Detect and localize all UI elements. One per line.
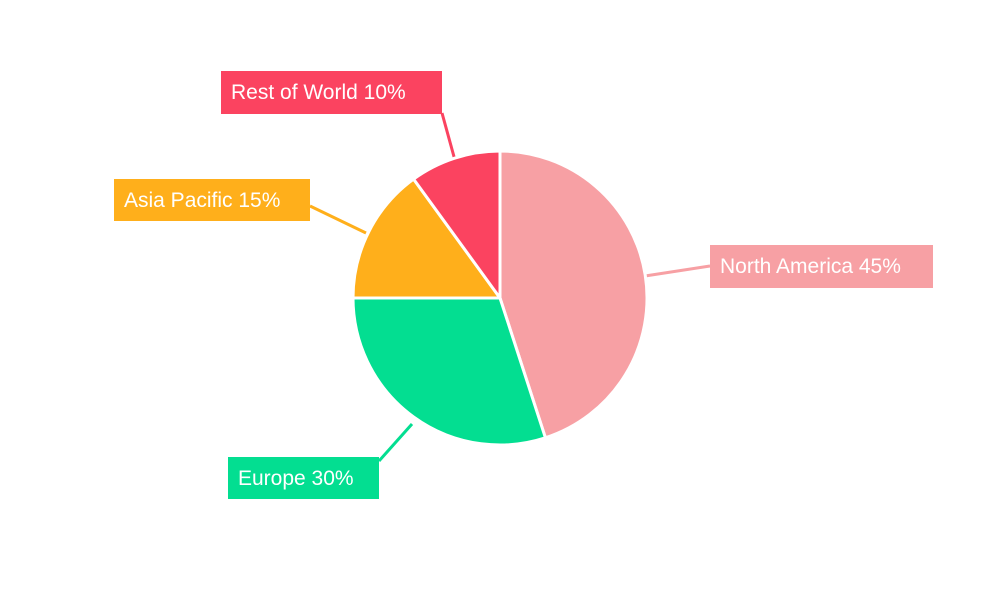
- pie-label-text: North America 45%: [720, 256, 901, 277]
- pie-chart-canvas: North America 45%Europe 30%Asia Pacific …: [0, 0, 1000, 600]
- pie-label-text: Rest of World 10%: [231, 82, 406, 103]
- pie-chart-svg: [0, 0, 1000, 600]
- leader-line-asia-pacific: [310, 206, 366, 233]
- pie-label-north-america[interactable]: North America 45%: [710, 245, 933, 288]
- pie-label-text: Europe 30%: [238, 468, 354, 489]
- pie-label-asia-pacific[interactable]: Asia Pacific 15%: [114, 179, 310, 221]
- leader-line-europe: [379, 424, 412, 461]
- leader-line-rest-of-world: [442, 113, 456, 164]
- pie-label-text: Asia Pacific 15%: [124, 190, 280, 211]
- pie-slice-group: [353, 151, 647, 445]
- leader-line-north-america: [645, 266, 710, 276]
- pie-label-europe[interactable]: Europe 30%: [228, 457, 379, 499]
- pie-label-rest-of-world[interactable]: Rest of World 10%: [221, 71, 442, 114]
